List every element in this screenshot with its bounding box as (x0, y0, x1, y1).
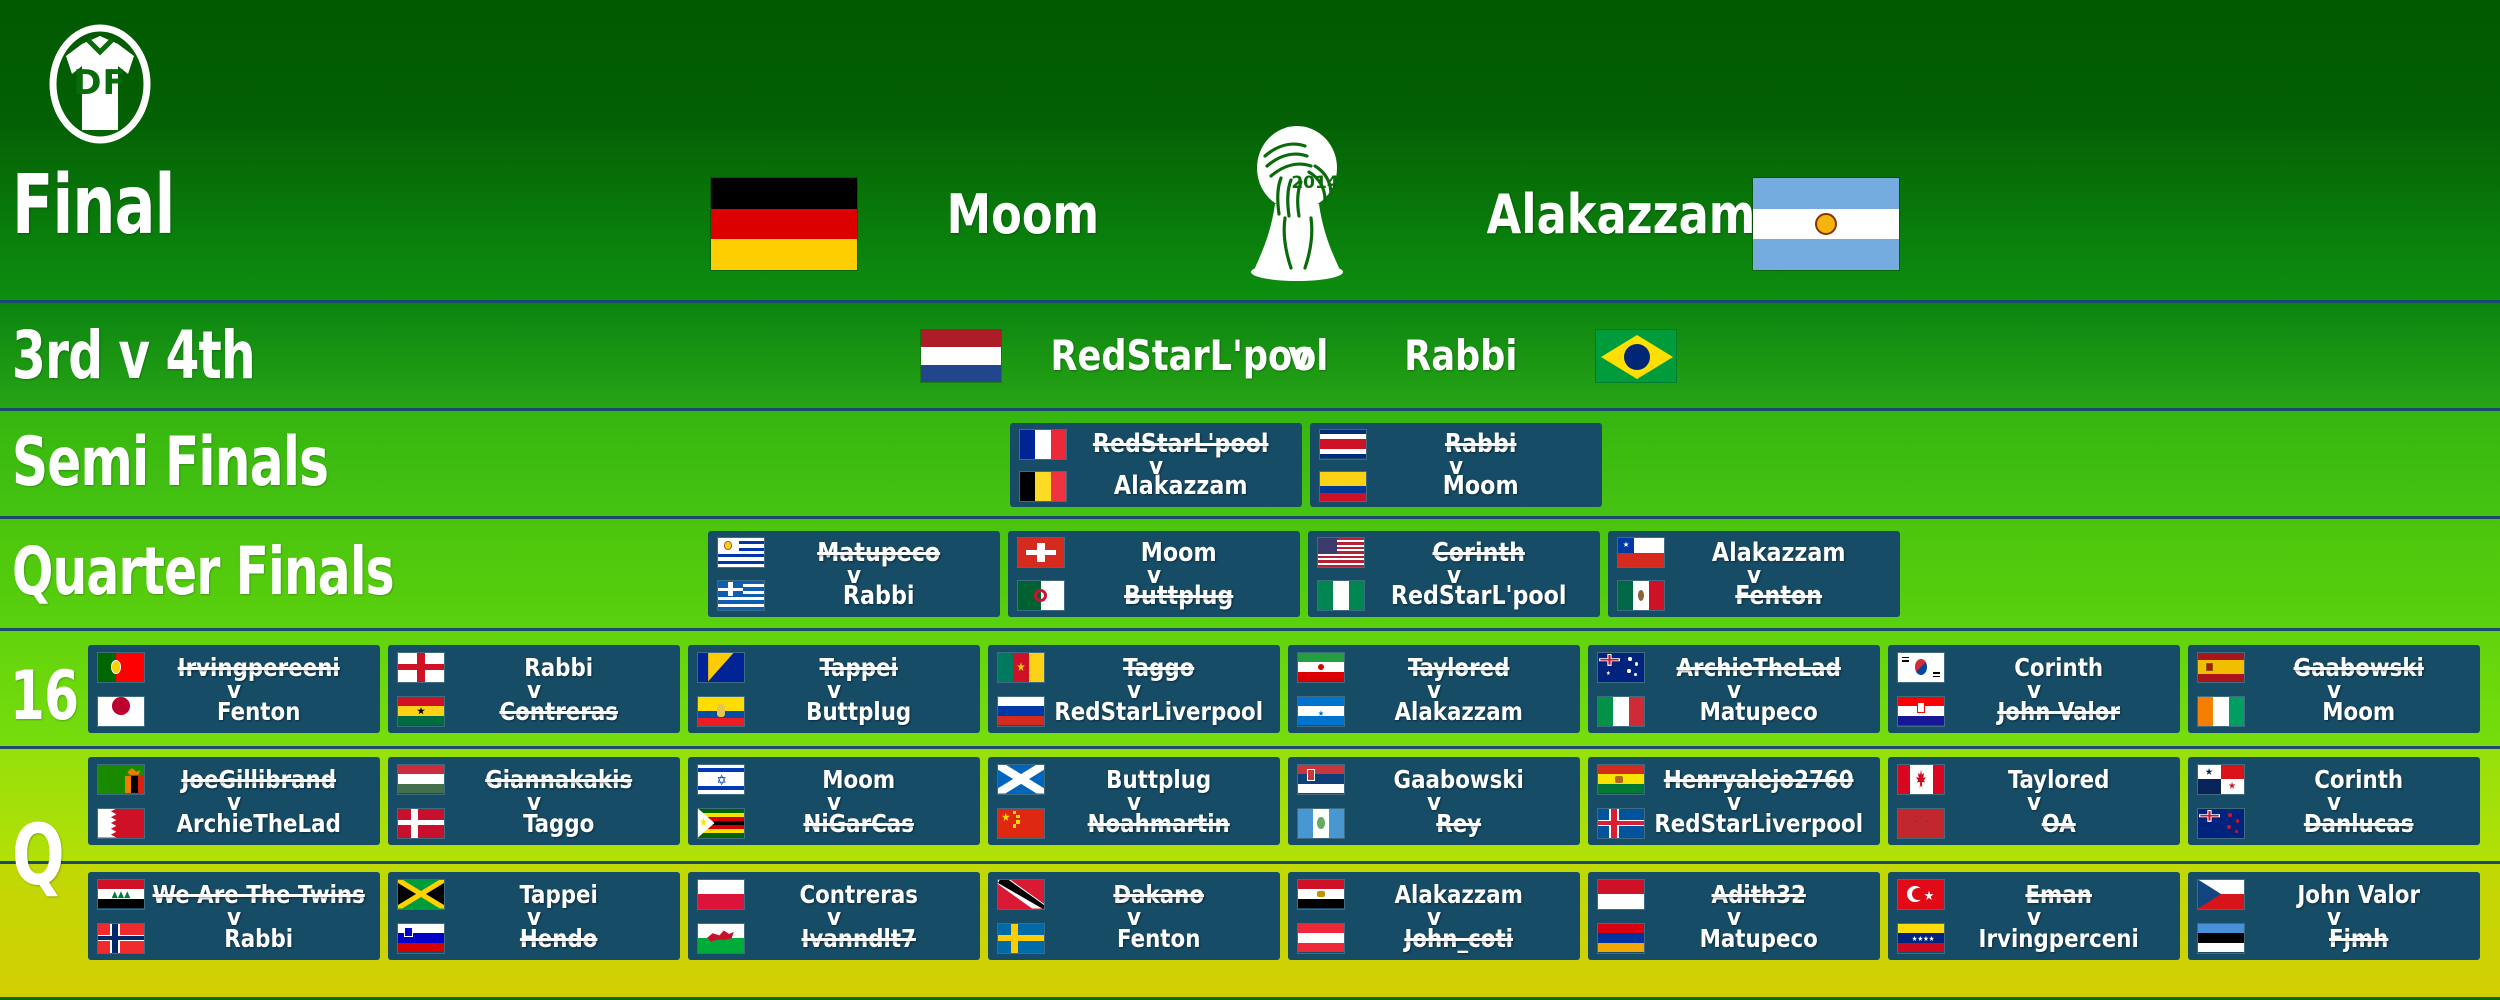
match-side-bottom: Fenton (1608, 574, 1900, 617)
flag-icon-serbia (1297, 764, 1345, 795)
flag-icon-usa (1317, 537, 1365, 568)
match-side-bottom: Matupeco (1588, 689, 1880, 733)
match-side-top: Giannakakis (388, 757, 680, 801)
match-side-bottom: Rabbi (88, 916, 380, 960)
flag-icon-czech (2197, 879, 2245, 910)
match-side-top: ✡Moom (688, 757, 980, 801)
match-box[interactable]: ContrerasIvanndlt7v (688, 872, 980, 960)
team-name: OA (1951, 809, 2174, 838)
team-name: Alakazzam (1073, 471, 1296, 501)
team-name: Noahmartin (1051, 809, 1274, 838)
team-name: Tappei (451, 880, 674, 909)
team-name: Buttplug (1071, 581, 1294, 611)
flag-icon-greece (717, 580, 765, 611)
flag-icon-honduras: ★ ★ ★ (1297, 696, 1345, 727)
third-left-flag-netherlands (920, 329, 1002, 383)
round-label-third: 3rd v 4th (12, 317, 255, 394)
flag-icon-ghana (397, 696, 445, 727)
team-name: ArchieTheLad (1651, 653, 1874, 682)
world-cup-trophy-icon: 2014 (1245, 122, 1350, 282)
match-side-bottom: Moom (1310, 465, 1602, 507)
match-side-bottom: Rey (1288, 801, 1580, 845)
qualifier-matches-row-2: ▲▲▲We Are The TwinsRabbivTappeiHendovCon… (0, 864, 2500, 997)
flag-icon-uruguay (717, 537, 765, 568)
flag-icon-southkorea (1897, 652, 1945, 683)
team-name: Eman (1951, 880, 2174, 909)
team-name: Moom (1071, 538, 1294, 568)
match-box[interactable]: GiannakakisTaggov (388, 757, 680, 845)
match-side-bottom: Buttplug (688, 689, 980, 733)
team-name: John Valor (1951, 697, 2174, 726)
match-side-top: Tappei (688, 645, 980, 689)
match-box[interactable]: TappeiButtplugv (688, 645, 980, 733)
match-side-top: Alakazzam (1608, 531, 1900, 574)
match-box[interactable]: ▲▲▲We Are The TwinsRabbiv (88, 872, 380, 960)
team-name: Matupeco (1651, 924, 1874, 953)
flag-icon-panama (2197, 764, 2245, 795)
flag-icon-wales (697, 923, 745, 954)
team-name: Danlucas (2251, 809, 2474, 838)
flag-icon-colombia (1319, 471, 1367, 502)
flag-icon-italy (1597, 696, 1645, 727)
match-side-bottom: ★★★★Irvingperceni (1888, 916, 2180, 960)
final-match: Moom (0, 0, 2500, 300)
team-name: Rey (1351, 809, 1574, 838)
match-side-top: Irvingpereeni (88, 645, 380, 689)
flag-icon-indonesia (1597, 879, 1645, 910)
match-box[interactable]: TappeiHendov (388, 872, 680, 960)
match-side-top: John Valor (2188, 872, 2480, 916)
team-name: RedStarLiverpool (1051, 697, 1274, 726)
team-name: Moom (751, 765, 974, 794)
team-name: Taylored (1951, 765, 2174, 794)
match-side-top: Henryalejo2760 (1588, 757, 1880, 801)
team-name: Giannakakis (451, 765, 674, 794)
flag-icon-france (1019, 429, 1067, 460)
match-side-top: Buttplug (988, 757, 1280, 801)
team-name: Fenton (1671, 581, 1894, 611)
match-side-top: Corinth (1308, 531, 1600, 574)
match-box[interactable]: ★Eman★★★★Irvingperceniv (1888, 872, 2180, 960)
match-box[interactable]: RedStarL'poolAlakazzamv (1010, 423, 1302, 507)
round-row-16: 16 IrvingpereeniFentonvRabbiContrerasvTa… (0, 628, 2500, 746)
flag-icon-croatia (1897, 696, 1945, 727)
team-name: Buttplug (751, 697, 974, 726)
match-side-bottom: Ivanndlt7 (688, 916, 980, 960)
match-side-bottom: Fjmh (2188, 916, 2480, 960)
team-name: Corinth (1951, 653, 2174, 682)
flag-icon-bosnia (697, 652, 745, 683)
round-row-qualifiers-2: Q ▲▲▲We Are The TwinsRabbivTappeiHendovC… (0, 861, 2500, 997)
match-side-bottom: RedStarLiverpool (988, 689, 1280, 733)
team-name: ArchieTheLad (151, 809, 374, 838)
flag-icon-armenia (1597, 923, 1645, 954)
flag-icon-newzealand (2197, 808, 2245, 839)
flag-icon-iraq: ▲▲▲ (97, 879, 145, 910)
third-right-team: Rabbi (1404, 331, 1517, 380)
flag-icon-austria (1297, 923, 1345, 954)
match-side-top: ArchieTheLad (1588, 645, 1880, 689)
match-side-top: Taylored (1888, 757, 2180, 801)
final-left-team: Moom (947, 183, 1099, 246)
match-box[interactable]: TayloredOAv (1888, 757, 2180, 845)
match-side-top: Dakano (988, 872, 1280, 916)
team-name: Irvingperceni (1951, 924, 2174, 953)
team-name: Moom (1373, 471, 1596, 501)
flag-icon-poland (697, 879, 745, 910)
match-box[interactable]: CorinthDanlucasv (2188, 757, 2480, 845)
match-box[interactable]: TaggoRedStarLiverpoolv (988, 645, 1280, 733)
match-box[interactable]: MoomButtplugv (1008, 531, 1300, 617)
match-side-bottom: NiGarCas (688, 801, 980, 845)
team-name: Tappei (751, 653, 974, 682)
flag-icon-trinidad (997, 879, 1045, 910)
flag-icon-portugal (97, 652, 145, 683)
flag-icon-algeria (1017, 580, 1065, 611)
team-name: Alakazzam (1351, 880, 1574, 909)
flag-icon-iceland (1597, 808, 1645, 839)
match-side-bottom: Alakazzam (1010, 465, 1302, 507)
match-side-bottom: Fenton (88, 689, 380, 733)
team-name: Fjmh (2251, 924, 2474, 953)
match-box[interactable]: JoeGillibrandArchieTheLadv (88, 757, 380, 845)
third-vs-label: v (1288, 333, 1311, 379)
team-name: Matupeco (1651, 697, 1874, 726)
final-left-flag-germany (710, 177, 858, 271)
match-side-bottom: ArchieTheLad (88, 801, 380, 845)
match-side-bottom: RedStarLiverpool (1588, 801, 1880, 845)
flag-icon-spain (2197, 652, 2245, 683)
flag-icon-belgium (1019, 471, 1067, 502)
team-name: Moom (2251, 697, 2474, 726)
round-row-quarter-finals: Quarter Finals MatupecoRabbivMoomButtplu… (0, 516, 2500, 628)
match-box[interactable]: MatupecoRabbiv (708, 531, 1000, 617)
flag-icon-norway (97, 923, 145, 954)
match-box[interactable]: IrvingpereeniFentonv (88, 645, 380, 733)
match-side-top: Alakazzam (1288, 872, 1580, 916)
match-box[interactable]: ButtplugNoahmartinv (988, 757, 1280, 845)
third-right-flag-brazil (1595, 329, 1677, 383)
flag-icon-ecuador (697, 696, 745, 727)
team-name: Dakano (1051, 880, 1274, 909)
flag-icon-australia (1597, 652, 1645, 683)
match-box[interactable]: RabbiContrerasv (388, 645, 680, 733)
team-name: Corinth (2251, 765, 2474, 794)
flag-icon-slovenia (397, 923, 445, 954)
match-side-bottom: John_coti (1288, 916, 1580, 960)
team-name: Alakazzam (1351, 697, 1574, 726)
match-box[interactable]: GaabowskiMoomv (2188, 645, 2480, 733)
flag-icon-zimbabwe (697, 808, 745, 839)
flag-icon-mexico (1617, 580, 1665, 611)
match-box[interactable]: Taylored★ ★ ★Alakazzamv (1288, 645, 1580, 733)
qualifier-matches-row-1: JoeGillibrandArchieTheLadvGiannakakisTag… (0, 749, 2500, 861)
flag-icon-bahrain (97, 808, 145, 839)
team-name: John_coti (1351, 924, 1574, 953)
team-name: Contreras (751, 880, 974, 909)
match-box[interactable]: CorinthRedStarL'poolv (1308, 531, 1600, 617)
match-side-bottom: RedStarL'pool (1308, 574, 1600, 617)
match-side-top: Matupeco (708, 531, 1000, 574)
match-side-bottom: Hendo (388, 916, 680, 960)
team-name: Corinth (1371, 538, 1594, 568)
flag-icon-cameroon (997, 652, 1045, 683)
match-side-bottom: Noahmartin (988, 801, 1280, 845)
team-name: Irvingpereeni (151, 653, 374, 682)
flag-icon-estonia (2197, 923, 2245, 954)
match-side-top: Tappei (388, 872, 680, 916)
flag-icon-switzerland (1017, 537, 1065, 568)
team-name: Buttplug (1051, 765, 1274, 794)
match-side-top: Gaabowski (2188, 645, 2480, 689)
match-side-bottom: Fenton (988, 916, 1280, 960)
match-side-bottom: Buttplug (1008, 574, 1300, 617)
team-name: Rabbi (451, 653, 674, 682)
flag-icon-turkey: ★ (1897, 879, 1945, 910)
flag-icon-japan (97, 696, 145, 727)
flag-icon-scotland (997, 764, 1045, 795)
round-of-16-matches: IrvingpereeniFentonvRabbiContrerasvTappe… (0, 631, 2500, 746)
flag-icon-canada (1897, 764, 1945, 795)
team-name: Matupeco (771, 538, 994, 568)
flag-icon-guatemala (1297, 808, 1345, 839)
match-side-bottom: Rabbi (708, 574, 1000, 617)
match-side-top: Taggo (988, 645, 1280, 689)
match-side-top: ▲▲▲We Are The Twins (88, 872, 380, 916)
match-box[interactable]: RabbiMoomv (1310, 423, 1602, 507)
match-box[interactable]: AlakazzamJohn_cotiv (1288, 872, 1580, 960)
team-name: Taggo (1051, 653, 1274, 682)
match-box[interactable]: AlakazzamFentonv (1608, 531, 1900, 617)
match-box[interactable]: John ValorFjmhv (2188, 872, 2480, 960)
team-name: RedStarLiverpool (1651, 809, 1874, 838)
match-side-top: Corinth (1888, 645, 2180, 689)
flag-icon-costarica (1319, 429, 1367, 460)
team-name: Fenton (151, 697, 374, 726)
match-box[interactable]: DakanoFentonv (988, 872, 1280, 960)
flag-icon-iran (1297, 652, 1345, 683)
team-name: Fenton (1051, 924, 1274, 953)
team-name: Rabbi (771, 581, 994, 611)
flag-icon-israel: ✡ (697, 764, 745, 795)
match-side-bottom: Matupeco (1588, 916, 1880, 960)
flag-icon-chile (1617, 537, 1665, 568)
team-name: Taggo (451, 809, 674, 838)
match-side-top: Gaabowski (1288, 757, 1580, 801)
round-row-semi-finals: Semi Finals RedStarL'poolAlakazzamvRabbi… (0, 408, 2500, 516)
final-right-flag-argentina (1752, 177, 1900, 271)
team-name: RedStarL'pool (1371, 581, 1594, 611)
match-side-top: Rabbi (1310, 423, 1602, 465)
third-left-team: RedStarL'pool (1050, 331, 1328, 380)
final-right-team: Alakazzam (1487, 183, 1756, 246)
match-side-bottom: ★ ★ ★Alakazzam (1288, 689, 1580, 733)
quarter-final-matches: MatupecoRabbivMoomButtplugvCorinthRedSta… (0, 519, 2500, 628)
match-side-top: Moom (1008, 531, 1300, 574)
team-name: Gaabowski (2251, 653, 2474, 682)
team-name: We Are The Twins (151, 880, 374, 909)
team-name: Alakazzam (1671, 538, 1894, 568)
team-name: Taylored (1351, 653, 1574, 682)
flag-icon-denmark (397, 808, 445, 839)
match-side-bottom: Moom (2188, 689, 2480, 733)
match-box[interactable]: ArchieTheLadMatupecov (1588, 645, 1880, 733)
match-side-bottom: Danlucas (2188, 801, 2480, 845)
flag-icon-morocco (1897, 808, 1945, 839)
flag-icon-hungary (397, 764, 445, 795)
semi-final-matches: RedStarL'poolAlakazzamvRabbiMoomv (0, 411, 2500, 516)
team-name: Adith32 (1651, 880, 1874, 909)
match-side-top: Rabbi (388, 645, 680, 689)
match-side-top: Contreras (688, 872, 980, 916)
flag-icon-bolivia (1597, 764, 1645, 795)
round-row-third-place: 3rd v 4th RedStarL'pool v Rabbi (0, 300, 2500, 408)
flag-icon-zambia (97, 764, 145, 795)
match-side-bottom: Taggo (388, 801, 680, 845)
flag-icon-england (397, 652, 445, 683)
team-name: JoeGillibrand (151, 765, 374, 794)
team-name: NiGarCas (751, 809, 974, 838)
match-side-top: Corinth (2188, 757, 2480, 801)
round-row-qualifiers-1: JoeGillibrandArchieTheLadvGiannakakisTag… (0, 746, 2500, 861)
match-box[interactable]: CorinthJohn Valorv (1888, 645, 2180, 733)
trophy-year: 2014 (1291, 173, 1338, 193)
match-side-top: JoeGillibrand (88, 757, 380, 801)
match-box[interactable]: ✡MoomNiGarCasv (688, 757, 980, 845)
team-name: Hendo (451, 924, 674, 953)
team-name: Ivanndlt7 (751, 924, 974, 953)
team-name: Contreras (451, 697, 674, 726)
flag-icon-egypt (1297, 879, 1345, 910)
flag-icon-jamaica (397, 879, 445, 910)
team-name: Rabbi (1373, 429, 1596, 459)
flag-icon-sweden (997, 923, 1045, 954)
team-name: Rabbi (151, 924, 374, 953)
match-side-bottom: OA (1888, 801, 2180, 845)
tournament-bracket: DF Final Moom (0, 0, 2500, 1000)
round-row-final: DF Final Moom (0, 0, 2500, 300)
flag-icon-russia (997, 696, 1045, 727)
team-name: Gaabowski (1351, 765, 1574, 794)
match-side-top: ★Eman (1888, 872, 2180, 916)
match-side-top: RedStarL'pool (1010, 423, 1302, 465)
team-name: Henryalejo2760 (1651, 765, 1874, 794)
flag-icon-china (997, 808, 1045, 839)
flag-icon-nigeria (1317, 580, 1365, 611)
match-box[interactable]: Henryalejo2760RedStarLiverpoolv (1588, 757, 1880, 845)
match-side-top: Taylored (1288, 645, 1580, 689)
team-name: RedStarL'pool (1073, 429, 1296, 459)
flag-icon-venezuela: ★★★★ (1897, 923, 1945, 954)
match-box[interactable]: Adith32Matupecov (1588, 872, 1880, 960)
flag-icon-ivorycoast (2197, 696, 2245, 727)
match-box[interactable]: GaabowskiReyv (1288, 757, 1580, 845)
match-side-top: Adith32 (1588, 872, 1880, 916)
match-side-bottom: Contreras (388, 689, 680, 733)
match-side-bottom: John Valor (1888, 689, 2180, 733)
team-name: John Valor (2251, 880, 2474, 909)
